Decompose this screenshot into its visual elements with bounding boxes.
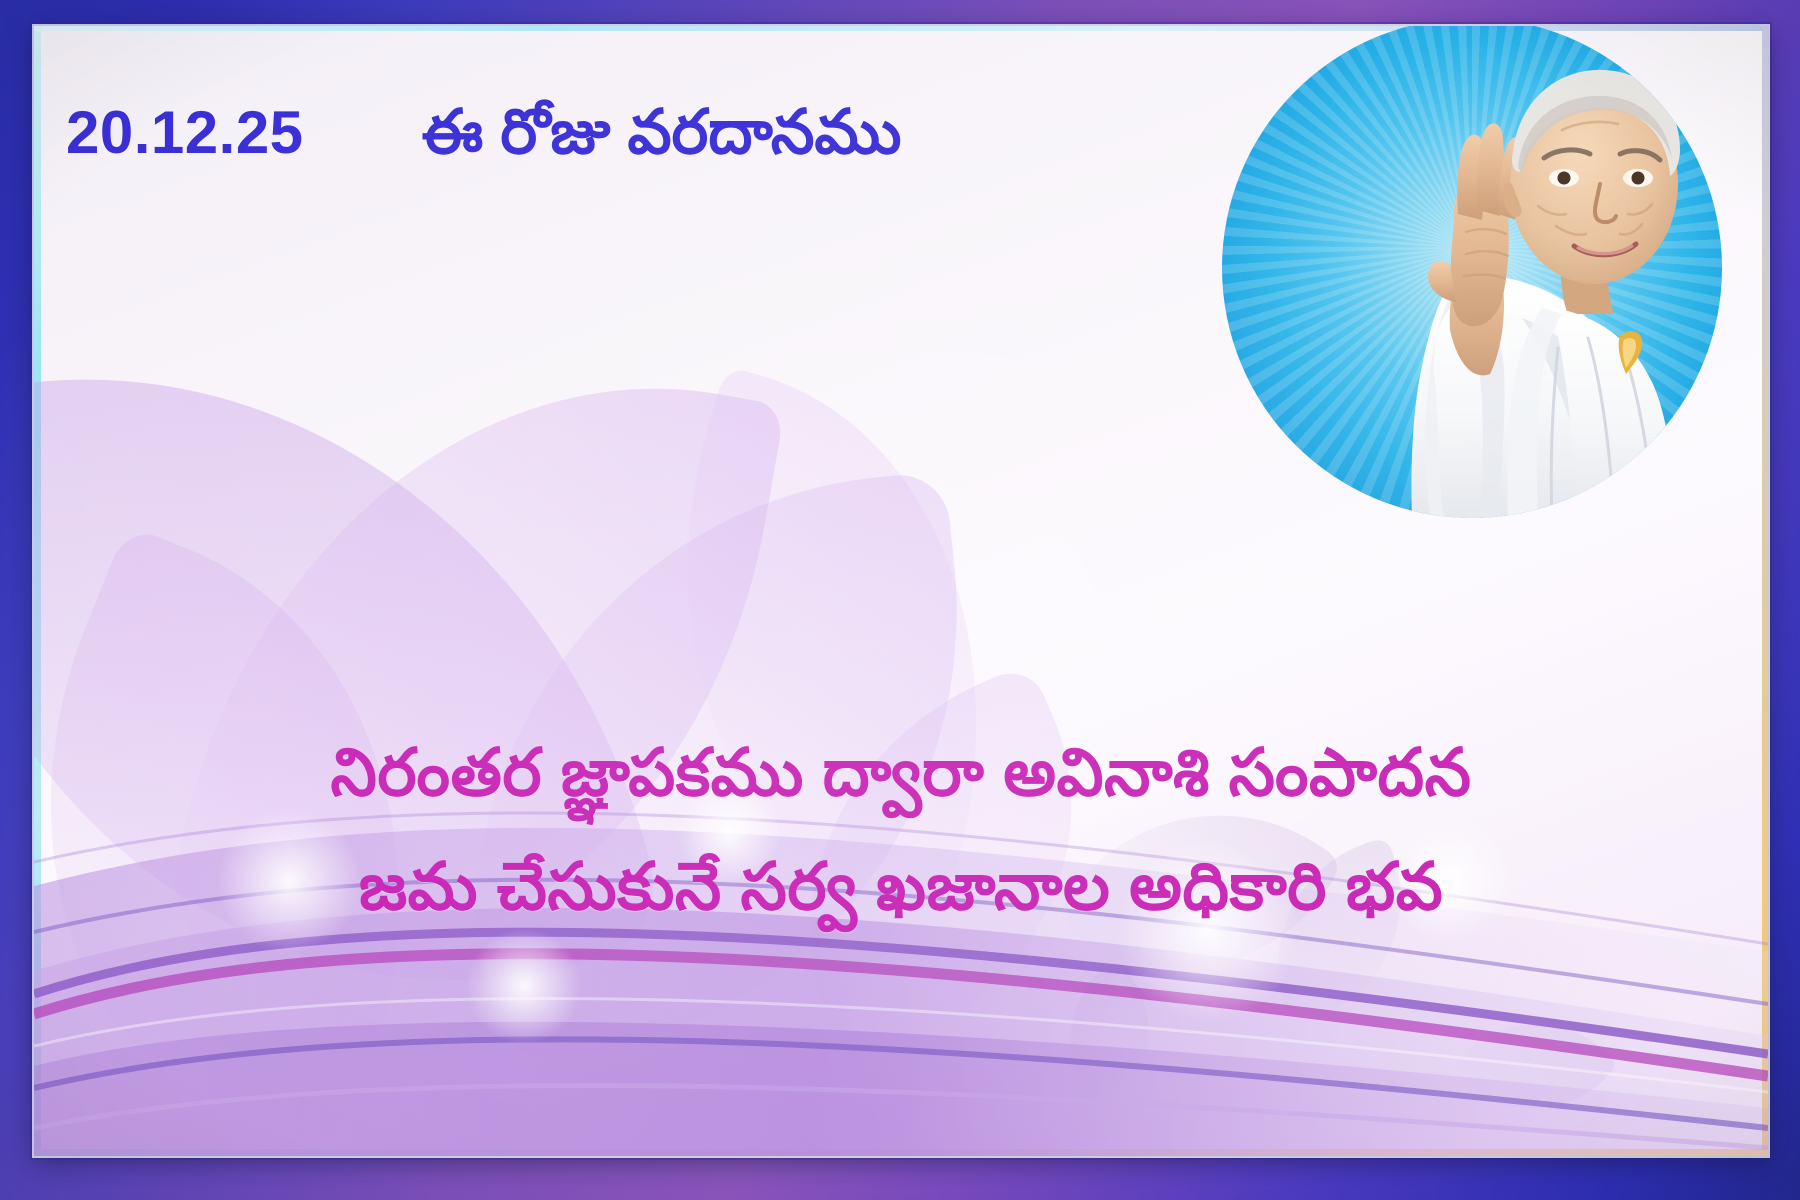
portrait-figure bbox=[1222, 26, 1722, 518]
bottom-gold-edge bbox=[34, 1149, 1768, 1156]
page-title: ఈ రోజు వరదానము bbox=[422, 99, 902, 167]
leaf-shape bbox=[1032, 959, 1187, 1114]
date-label: 20.12.25 bbox=[66, 103, 304, 163]
message-block: నిరంతర జ్ఞాపకము ద్వారా అవినాశి సంపాదన జమ… bbox=[94, 716, 1708, 943]
message-line-1: నిరంతర జ్ఞాపకము ద్వారా అవినాశి సంపాదన bbox=[94, 716, 1708, 830]
poster-root: 20.12.25 ఈ రోజు వరదానము bbox=[0, 0, 1800, 1200]
poster-card: 20.12.25 ఈ రోజు వరదానము bbox=[34, 26, 1768, 1156]
petal-shape bbox=[34, 261, 669, 1090]
right-gold-edge bbox=[1762, 26, 1768, 1156]
left-cyan-edge bbox=[34, 26, 41, 1156]
portrait-avatar bbox=[1222, 26, 1722, 518]
leaf-shape bbox=[1449, 981, 1619, 1151]
light-glow bbox=[464, 926, 584, 1046]
message-line-2: జమ చేసుకునే సర్వ ఖజానాల అధికారి భవ bbox=[94, 830, 1708, 944]
